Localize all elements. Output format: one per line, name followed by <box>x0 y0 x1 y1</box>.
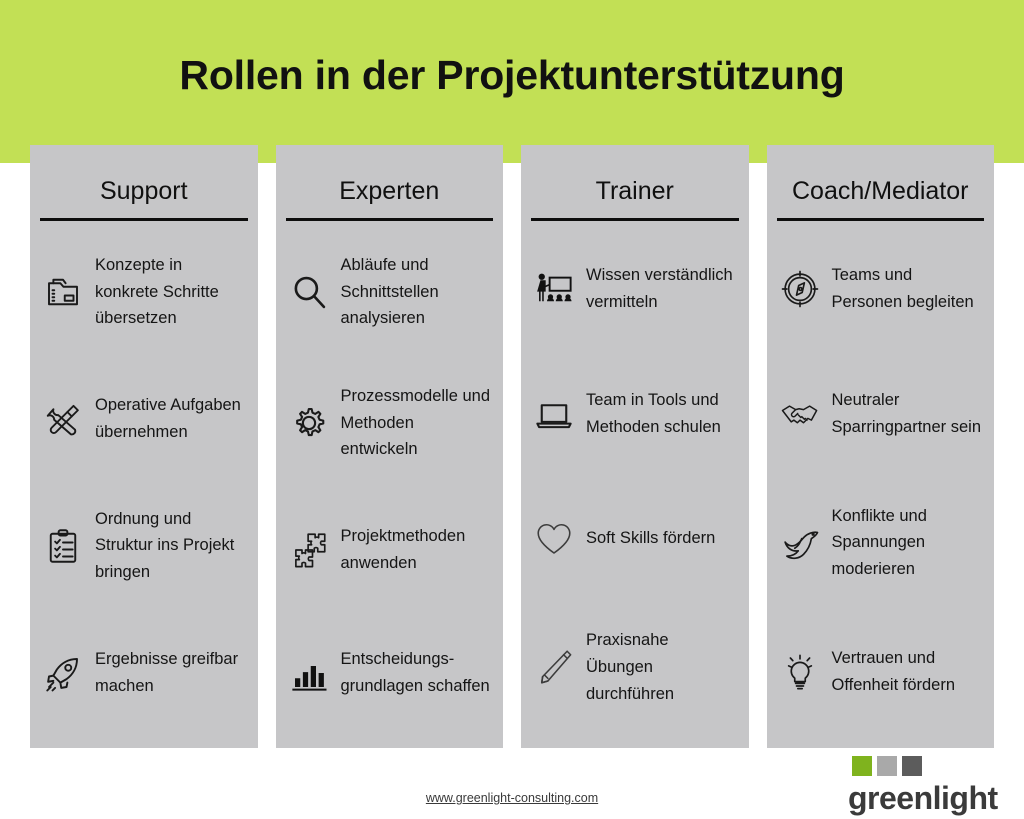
role-columns: Support Konzepte in konkrete Schritte üb… <box>30 145 994 748</box>
list-item[interactable]: Team in Tools und Methoden schulen <box>531 378 737 450</box>
card-header: Coach/Mediator <box>767 145 995 206</box>
magnifier-icon <box>286 269 332 315</box>
slide-canvas: Rollen in der Projektunterstützung Suppo… <box>0 0 1024 819</box>
compass-icon <box>777 266 823 312</box>
logo-square-light-gray <box>877 756 897 776</box>
list-item-label: Neutraler Sparringpartner sein <box>832 387 983 440</box>
card-body: Teams und Personen begleiten Neutraler S… <box>767 221 995 749</box>
list-item[interactable]: Teams und Personen begleiten <box>777 253 983 325</box>
role-card-coach-mediator[interactable]: Coach/Mediator Teams und Personen be <box>767 145 995 748</box>
pencil-icon <box>531 644 577 690</box>
list-item-label: Ordnung und Struktur ins Projekt bringen <box>95 506 246 586</box>
card-body: Wissen verständlich vermitteln Team in T… <box>521 221 749 749</box>
list-item-label: Wissen verständlich vermitteln <box>586 262 737 315</box>
list-item-label: Prozessmodelle und Methoden entwickeln <box>341 383 492 463</box>
logo-square-green <box>852 756 872 776</box>
dove-icon <box>777 520 823 566</box>
gear-icon <box>286 400 332 446</box>
card-header: Experten <box>276 145 504 206</box>
logo-square-dark-gray <box>902 756 922 776</box>
list-item-label: Projektmethoden anwenden <box>341 523 492 576</box>
puzzle-pieces-icon <box>286 527 332 573</box>
card-header: Support <box>30 145 258 206</box>
folder-document-icon <box>40 269 86 315</box>
heart-icon <box>531 516 577 562</box>
page-title: Rollen in der Projektunterstützung <box>0 52 1024 99</box>
list-item-label: Soft Skills fördern <box>586 525 737 552</box>
card-title: Experten <box>286 178 494 206</box>
list-item[interactable]: Ergebnisse greifbar machen <box>40 637 246 709</box>
card-body: Abläufe und Schnittstellen analysieren P… <box>276 221 504 749</box>
list-item[interactable]: Entscheidungs-grundlagen schaffen <box>286 637 492 709</box>
list-item-label: Vertrauen und Offenheit fördern <box>832 645 983 698</box>
header-band: Rollen in der Projektunterstützung <box>0 0 1024 163</box>
logo-squares <box>852 756 1018 776</box>
list-item-label: Ergebnisse greifbar machen <box>95 646 246 699</box>
list-item-label: Praxisnahe Übungen durchführen <box>586 627 737 707</box>
list-item-label: Konzepte in konkrete Schritte übersetzen <box>95 252 246 332</box>
list-item-label: Konflikte und Spannungen moderieren <box>832 503 983 583</box>
list-item[interactable]: Ordnung und Struktur ins Projekt bringen <box>40 506 246 586</box>
list-item[interactable]: Soft Skills fördern <box>531 503 737 575</box>
bar-chart-icon <box>286 650 332 696</box>
role-card-trainer[interactable]: Trainer <box>521 145 749 748</box>
list-item[interactable]: Neutraler Sparringpartner sein <box>777 378 983 450</box>
list-item-label: Teams und Personen begleiten <box>832 262 983 315</box>
role-card-experten[interactable]: Experten Abläufe und Schnittstellen anal… <box>276 145 504 748</box>
list-item[interactable]: Prozessmodelle und Methoden entwickeln <box>286 383 492 463</box>
card-title: Trainer <box>531 178 739 206</box>
lightbulb-icon <box>777 649 823 695</box>
list-item[interactable]: Vertrauen und Offenheit fördern <box>777 636 983 708</box>
list-item-label: Entscheidungs-grundlagen schaffen <box>341 646 492 699</box>
list-item-label: Abläufe und Schnittstellen analysieren <box>341 252 492 332</box>
list-item-label: Team in Tools und Methoden schulen <box>586 387 737 440</box>
list-item[interactable]: Operative Aufgaben übernehmen <box>40 383 246 455</box>
presentation-teaching-icon <box>531 266 577 312</box>
list-item-label: Operative Aufgaben übernehmen <box>95 392 246 445</box>
card-title: Coach/Mediator <box>777 178 985 206</box>
handshake-icon <box>777 391 823 437</box>
laptop-icon <box>531 391 577 437</box>
card-body: Konzepte in konkrete Schritte übersetzen… <box>30 221 258 749</box>
list-item[interactable]: Konzepte in konkrete Schritte übersetzen <box>40 252 246 332</box>
card-header: Trainer <box>521 145 749 206</box>
list-item[interactable]: Abläufe und Schnittstellen analysieren <box>286 252 492 332</box>
clipboard-checklist-icon <box>40 523 86 569</box>
role-card-support[interactable]: Support Konzepte in konkrete Schritte üb… <box>30 145 258 748</box>
greenlight-logo[interactable]: greenlight <box>848 756 1018 814</box>
list-item[interactable]: Wissen verständlich vermitteln <box>531 253 737 325</box>
wrench-hammer-icon <box>40 396 86 442</box>
list-item[interactable]: Projektmethoden anwenden <box>286 514 492 586</box>
card-title: Support <box>40 178 248 206</box>
logo-wordmark: greenlight <box>848 782 1018 814</box>
rocket-icon <box>40 650 86 696</box>
list-item[interactable]: Praxisnahe Übungen durchführen <box>531 627 737 707</box>
list-item[interactable]: Konflikte und Spannungen moderieren <box>777 503 983 583</box>
